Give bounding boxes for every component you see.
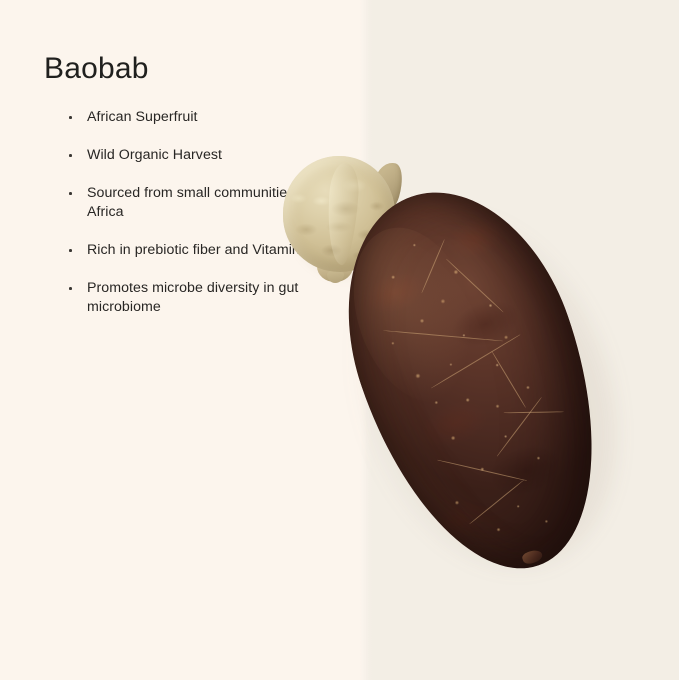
product-infographic: Baobab African Superfruit Wild Organic H… xyxy=(0,0,679,680)
bullet-dot-icon xyxy=(69,116,72,119)
page-title: Baobab xyxy=(44,52,149,85)
list-item: Sourced from small communities in Africa xyxy=(66,184,316,222)
benefit-list: African Superfruit Wild Organic Harvest … xyxy=(66,108,316,317)
bullet-dot-icon xyxy=(69,192,72,195)
bullet-dot-icon xyxy=(69,287,72,290)
baobab-fruit-pod xyxy=(332,176,632,588)
bullet-dot-icon xyxy=(69,249,72,252)
list-item-label: African Superfruit xyxy=(87,108,316,127)
bullet-dot-icon xyxy=(69,154,72,157)
list-item: African Superfruit xyxy=(66,108,316,127)
text-column: Baobab African Superfruit Wild Organic H… xyxy=(0,0,330,680)
list-item: Wild Organic Harvest xyxy=(66,146,316,165)
list-item: Rich in prebiotic fiber and Vitamin C xyxy=(66,241,316,260)
list-item: Promotes microbe diversity in gut microb… xyxy=(66,279,316,317)
